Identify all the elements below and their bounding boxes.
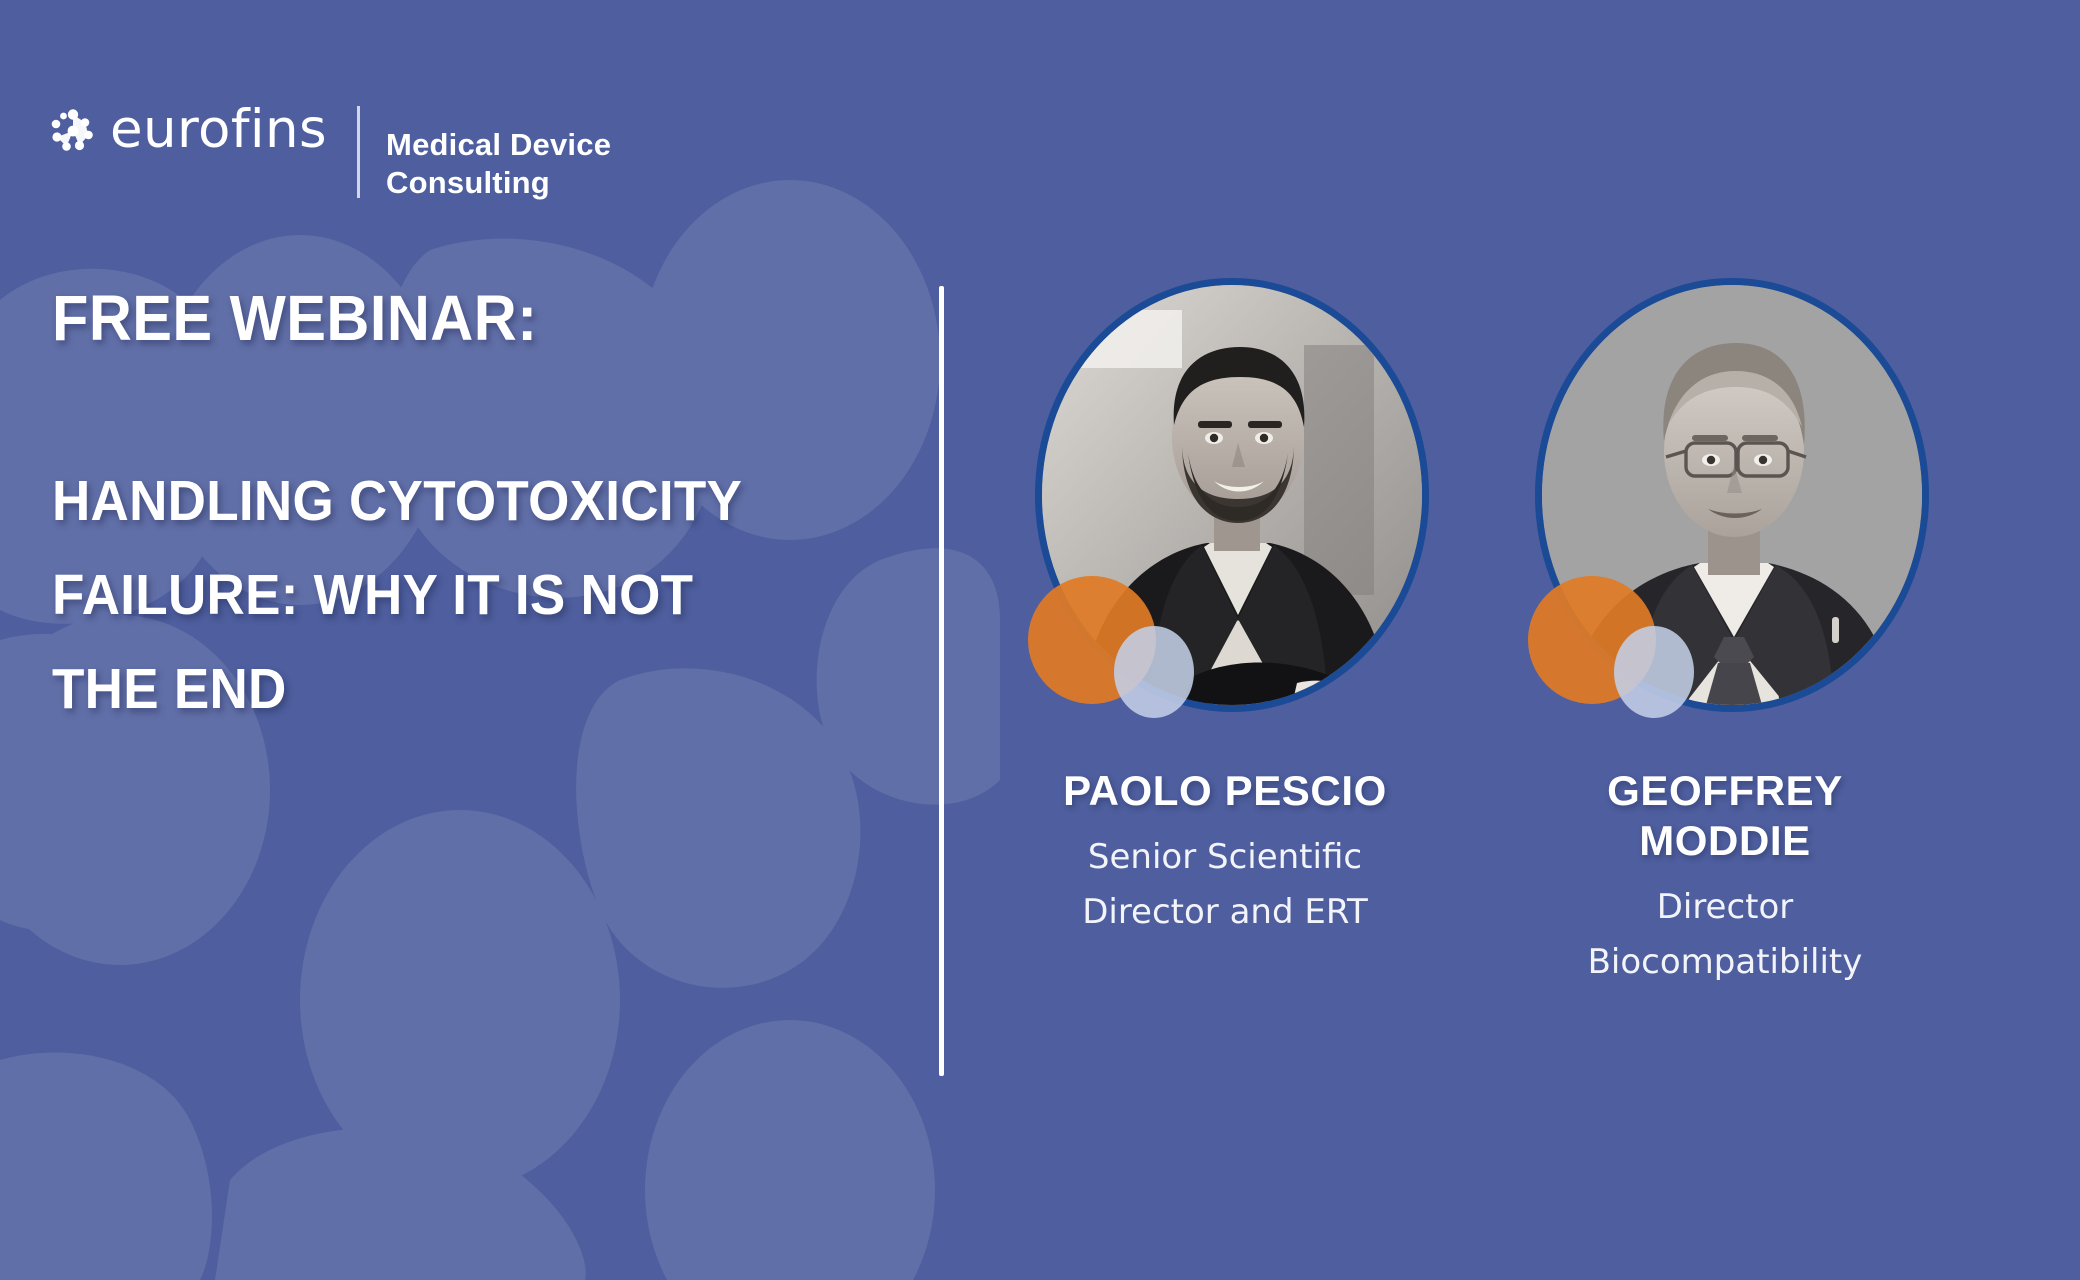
speaker-name: GEOFFREY MODDIE xyxy=(1520,766,1930,866)
webinar-title-line-2: FAILURE: WHY IT IS NOT xyxy=(52,548,852,642)
speaker-role-line-1: Director xyxy=(1520,880,1930,935)
eurofins-logo: eurofins Medical Device Consulting xyxy=(50,100,611,202)
speaker-name: PAOLO PESCIO xyxy=(1020,766,1430,816)
speaker-role: Director Biocompatibility xyxy=(1520,880,1930,990)
speaker-role-line-1: Senior Scientific xyxy=(1020,830,1430,885)
webinar-title-line-1: HANDLING CYTOTOXICITY xyxy=(52,454,852,548)
logo-subbrand-line-2: Consulting xyxy=(386,164,611,202)
webinar-title-line-3: THE END xyxy=(52,642,852,736)
speaker-portrait-wrap xyxy=(1520,278,1930,718)
speaker-role: Senior Scientific Director and ERT xyxy=(1020,830,1430,940)
logo-subbrand: Medical Device Consulting xyxy=(386,126,611,202)
speaker-card: PAOLO PESCIO Senior Scientific Director … xyxy=(1020,278,1430,990)
eurofins-wordmark: eurofins xyxy=(110,102,327,158)
speaker-role-line-2: Director and ERT xyxy=(1020,885,1430,940)
webinar-kicker: FREE WEBINAR: xyxy=(52,282,852,354)
headline-column: FREE WEBINAR: HANDLING CYTOTOXICITY FAIL… xyxy=(52,282,912,736)
webinar-title: HANDLING CYTOTOXICITY FAILURE: WHY IT IS… xyxy=(52,454,912,736)
decorative-blue-circle xyxy=(1114,626,1194,718)
speaker-role-line-2: Biocompatibility xyxy=(1520,935,1930,990)
eurofins-dot-cluster-icon xyxy=(50,108,96,154)
webinar-promo-slide: eurofins Medical Device Consulting FREE … xyxy=(0,0,2080,1280)
logo-divider xyxy=(357,106,360,198)
speaker-list: PAOLO PESCIO Senior Scientific Director … xyxy=(1020,278,2030,990)
speaker-card: GEOFFREY MODDIE Director Biocompatibilit… xyxy=(1520,278,1930,990)
section-divider xyxy=(939,286,944,1076)
decorative-blue-circle xyxy=(1614,626,1694,718)
speaker-portrait-wrap xyxy=(1020,278,1430,718)
logo-subbrand-line-1: Medical Device xyxy=(386,126,611,164)
